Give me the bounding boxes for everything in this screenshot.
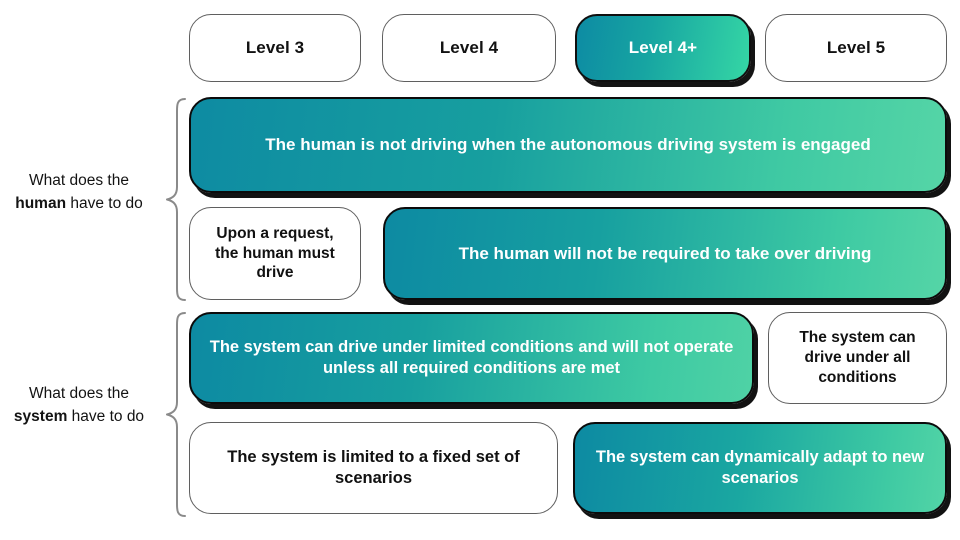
card-system-all-conditions[interactable]: The system can drive under all condition…: [768, 312, 947, 404]
card-human-not-driving[interactable]: The human is not driving when the autono…: [189, 97, 947, 193]
brace-system-section: [165, 311, 187, 518]
brace-human-section: [165, 97, 187, 302]
section-label-system-line1: What does the: [29, 385, 129, 402]
card-system-all-conditions-text: The system can drive under all condition…: [787, 328, 928, 387]
tab-level-4[interactable]: Level 4: [382, 14, 556, 82]
diagram-canvas: Level 3 Level 4 Level 4+ Level 5 What do…: [0, 0, 960, 540]
section-label-human: What does the human have to do: [0, 169, 158, 215]
tab-level-4-label: Level 4: [440, 38, 498, 58]
card-system-dynamic-scenarios[interactable]: The system can dynamically adapt to new …: [573, 422, 947, 514]
card-human-no-takeover-text: The human will not be required to take o…: [459, 243, 872, 265]
section-label-system: What does the system have to do: [0, 382, 158, 428]
tab-level-3[interactable]: Level 3: [189, 14, 361, 82]
tab-level-5[interactable]: Level 5: [765, 14, 947, 82]
section-label-system-keyword: system: [14, 408, 67, 425]
card-human-no-takeover[interactable]: The human will not be required to take o…: [383, 207, 947, 300]
tab-level-3-label: Level 3: [246, 38, 304, 58]
card-human-must-drive[interactable]: Upon a request, the human must drive: [189, 207, 361, 300]
section-label-human-line1: What does the: [29, 172, 129, 189]
section-label-human-line2: have to do: [66, 195, 143, 212]
tab-level-4-plus[interactable]: Level 4+: [575, 14, 751, 82]
section-label-human-keyword: human: [15, 195, 66, 212]
card-human-must-drive-text: Upon a request, the human must drive: [208, 224, 342, 283]
card-system-fixed-scenarios[interactable]: The system is limited to a fixed set of …: [189, 422, 558, 514]
card-system-limited-conditions[interactable]: The system can drive under limited condi…: [189, 312, 754, 404]
card-system-dynamic-scenarios-text: The system can dynamically adapt to new …: [593, 447, 927, 489]
tab-level-4-plus-label: Level 4+: [629, 38, 697, 58]
section-label-system-line2: have to do: [67, 408, 144, 425]
card-human-not-driving-text: The human is not driving when the autono…: [265, 134, 870, 156]
card-system-fixed-scenarios-text: The system is limited to a fixed set of …: [208, 447, 539, 489]
tab-level-5-label: Level 5: [827, 38, 885, 58]
card-system-limited-conditions-text: The system can drive under limited condi…: [209, 337, 734, 379]
